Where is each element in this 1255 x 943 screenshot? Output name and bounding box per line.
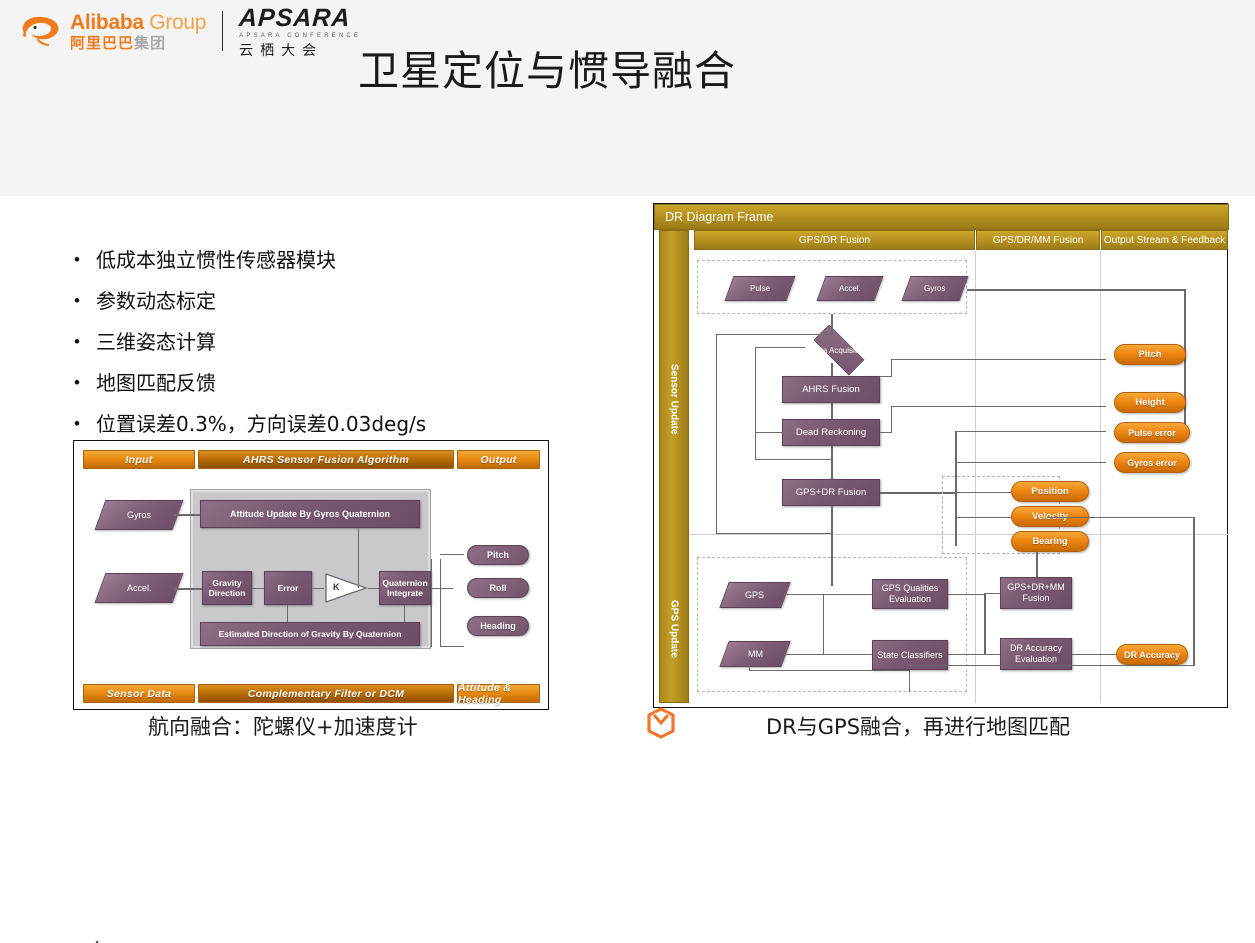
brand-logos: Alibaba Group 阿里巴巴集团 APSARA APSARA CONFE…	[18, 8, 361, 54]
connector-line	[955, 462, 1106, 463]
sensor-input-pulse: Pulse	[724, 276, 795, 301]
apsara-wordmark: APSARA APSARA CONFERENCE 云栖大会	[239, 6, 361, 57]
output-pitch: Pitch	[1114, 344, 1186, 365]
connector-line	[984, 593, 1000, 594]
connector-line	[716, 334, 832, 335]
logo-divider	[222, 11, 223, 51]
connector-line	[440, 554, 464, 555]
list-item: • 地图匹配反馈	[74, 371, 544, 395]
output-heading: Heading	[467, 616, 529, 636]
block-estimated-gravity: Estimated Direction of Gravity By Quater…	[200, 622, 420, 646]
block-quaternion-integrate: Quaternion Integrate	[379, 571, 431, 605]
left-diagram-bottom-bar-attitude: Attitude & Heading	[457, 684, 540, 703]
bullet-text: 位置误差0.3%，方向误差0.03deg/s	[96, 412, 426, 436]
row-label-sensor-update: Sensor Update	[659, 324, 689, 474]
sensor-input-accel: Accel.	[816, 276, 883, 301]
bullet-text: 低成本独立惯性传感器模块	[96, 248, 336, 272]
connector-line	[891, 406, 1106, 407]
connector-line	[831, 403, 833, 419]
ahrs-sensor-fusion-diagram: Input AHRS Sensor Fusion Algorithm Outpu…	[73, 440, 549, 710]
connector-line	[967, 289, 1185, 291]
header-band: Alibaba Group 阿里巴巴集团 APSARA APSARA CONFE…	[0, 0, 1255, 196]
left-caption: 航向融合：陀螺仪+加速度计	[148, 711, 418, 741]
alibaba-cn-gray: 集团	[134, 35, 166, 52]
connector-line	[784, 654, 872, 655]
connector-line	[755, 432, 783, 433]
grid-line	[1100, 251, 1101, 703]
page-title: 卫星定位与惯导融合	[358, 37, 736, 97]
bullet-marker: •	[74, 330, 96, 354]
block-error: Error	[264, 571, 312, 605]
connector-line	[749, 670, 909, 671]
block-gravity-direction: Gravity Direction	[202, 571, 252, 605]
connector-line	[404, 605, 405, 622]
apsara-cn: 云栖大会	[239, 43, 361, 57]
apsara-subtitle: APSARA CONFERENCE	[239, 33, 361, 39]
block-dead-reckoning: Dead Reckoning	[782, 419, 880, 446]
column-header-output-stream: Output Stream & Feedback	[1101, 230, 1228, 250]
output-gyros-error: Gyros error	[1114, 452, 1190, 473]
connector-line	[755, 347, 805, 348]
output-roll: Roll	[467, 578, 529, 598]
connector-line	[287, 605, 288, 622]
alibaba-logo-icon	[18, 11, 64, 51]
bullet-marker: •	[74, 371, 96, 395]
connector-line	[984, 654, 1000, 655]
list-item: • 参数动态标定	[74, 289, 544, 313]
list-item: • 位置误差0.3%，方向误差0.03deg/s	[74, 412, 544, 436]
connector-line	[358, 528, 359, 588]
connector-line	[312, 588, 324, 589]
gps-update-group	[697, 557, 967, 692]
connector-line	[891, 406, 892, 433]
output-dr-accuracy: DR Accuracy	[1116, 644, 1188, 665]
connector-line	[755, 459, 833, 460]
block-data-acquisition: Data Acquisition	[804, 337, 874, 363]
bullet-marker: •	[74, 248, 96, 272]
connector-line	[431, 588, 453, 589]
gps-input-mm: MM	[719, 641, 790, 667]
connector-line	[891, 359, 892, 377]
connector-line	[1184, 289, 1186, 434]
block-gps-qualities-evaluation: GPS Qualities Evaluation	[872, 579, 948, 609]
amap-logo-icon	[646, 707, 676, 739]
apsara-en: APSARA	[238, 6, 362, 31]
connector-line	[1193, 517, 1195, 666]
connector-line	[1072, 654, 1116, 655]
bullet-text: 三维姿态计算	[96, 330, 216, 354]
dr-frame-title: DR Diagram Frame	[654, 204, 1229, 230]
list-item: • 三维姿态计算	[74, 330, 544, 354]
alibaba-en-main: Alibaba	[70, 11, 144, 34]
connector-line	[984, 593, 986, 655]
sensor-input-gyros: Gyros	[901, 276, 968, 301]
dr-diagram-frame: DR Diagram Frame Sensor Update GPS Updat…	[653, 203, 1228, 708]
left-diagram-bottom-bar-filter: Complementary Filter or DCM	[198, 684, 454, 703]
left-diagram-bottom-bar-sensor-data: Sensor Data	[83, 684, 195, 703]
connector-line	[891, 359, 1106, 360]
list-item: • 低成本独立惯性传感器模块	[74, 248, 544, 272]
connector-line	[749, 656, 750, 671]
output-position: Position	[1011, 481, 1089, 502]
connector-line	[955, 431, 1106, 432]
block-gps-dr-mm-fusion: GPS+DR+MM Fusion	[1000, 577, 1072, 609]
left-input-gyros: Gyros	[95, 500, 184, 530]
left-input-accel: Accel.	[95, 573, 184, 603]
alibaba-en-group: Group	[149, 11, 206, 34]
bullet-text: 地图匹配反馈	[96, 371, 216, 395]
alibaba-wordmark: Alibaba Group 阿里巴巴集团	[70, 12, 206, 51]
right-caption: DR与GPS融合，再进行地图匹配	[766, 711, 1070, 741]
bullet-marker: •	[74, 412, 96, 436]
connector-line	[440, 559, 441, 647]
connector-line	[784, 594, 872, 595]
connector-line	[948, 654, 984, 655]
left-diagram-top-bar-input: Input	[83, 450, 195, 469]
connector-line	[716, 334, 717, 534]
connector-line	[440, 646, 464, 647]
connector-line	[252, 588, 264, 589]
bullet-text: 参数动态标定	[96, 289, 216, 313]
connector-line	[755, 347, 756, 459]
connector-line	[831, 363, 833, 376]
alibaba-cn-main: 阿里巴巴	[70, 35, 134, 52]
block-attitude-update: Attitude Update By Gyros Quaternion	[200, 500, 420, 528]
gps-input-gps: GPS	[719, 582, 790, 608]
connector-line	[909, 670, 910, 692]
connector-line	[368, 588, 379, 589]
left-diagram-top-bar-output: Output	[457, 450, 540, 469]
connector-line	[948, 594, 984, 595]
block-gps-dr-fusion: GPS+DR Fusion	[782, 479, 880, 506]
connector-line	[1047, 517, 1194, 518]
output-pulse-error: Pulse error	[1114, 422, 1190, 443]
output-height: Height	[1114, 392, 1186, 413]
connector-line	[831, 446, 833, 479]
output-pitch: Pitch	[467, 545, 529, 565]
connector-line	[823, 594, 824, 655]
output-bearing: Bearing	[1011, 531, 1089, 552]
block-gain-k: K	[324, 572, 368, 604]
row-label-gps-update: GPS Update	[659, 574, 689, 684]
connector-line	[909, 665, 1194, 666]
connector-line	[716, 533, 832, 534]
connector-line	[1036, 552, 1038, 577]
connector-line	[431, 559, 432, 647]
column-header-gps-dr-mm-fusion: GPS/DR/MM Fusion	[976, 230, 1100, 250]
column-header-gps-dr-fusion: GPS/DR Fusion	[694, 230, 975, 250]
bullet-marker: •	[74, 289, 96, 313]
left-diagram-top-bar-algorithm: AHRS Sensor Fusion Algorithm	[198, 450, 454, 469]
bullet-list: • 低成本独立惯性传感器模块 • 参数动态标定 • 三维姿态计算 • 地图匹配反…	[74, 248, 544, 453]
block-ahrs-fusion: AHRS Fusion	[782, 376, 880, 403]
